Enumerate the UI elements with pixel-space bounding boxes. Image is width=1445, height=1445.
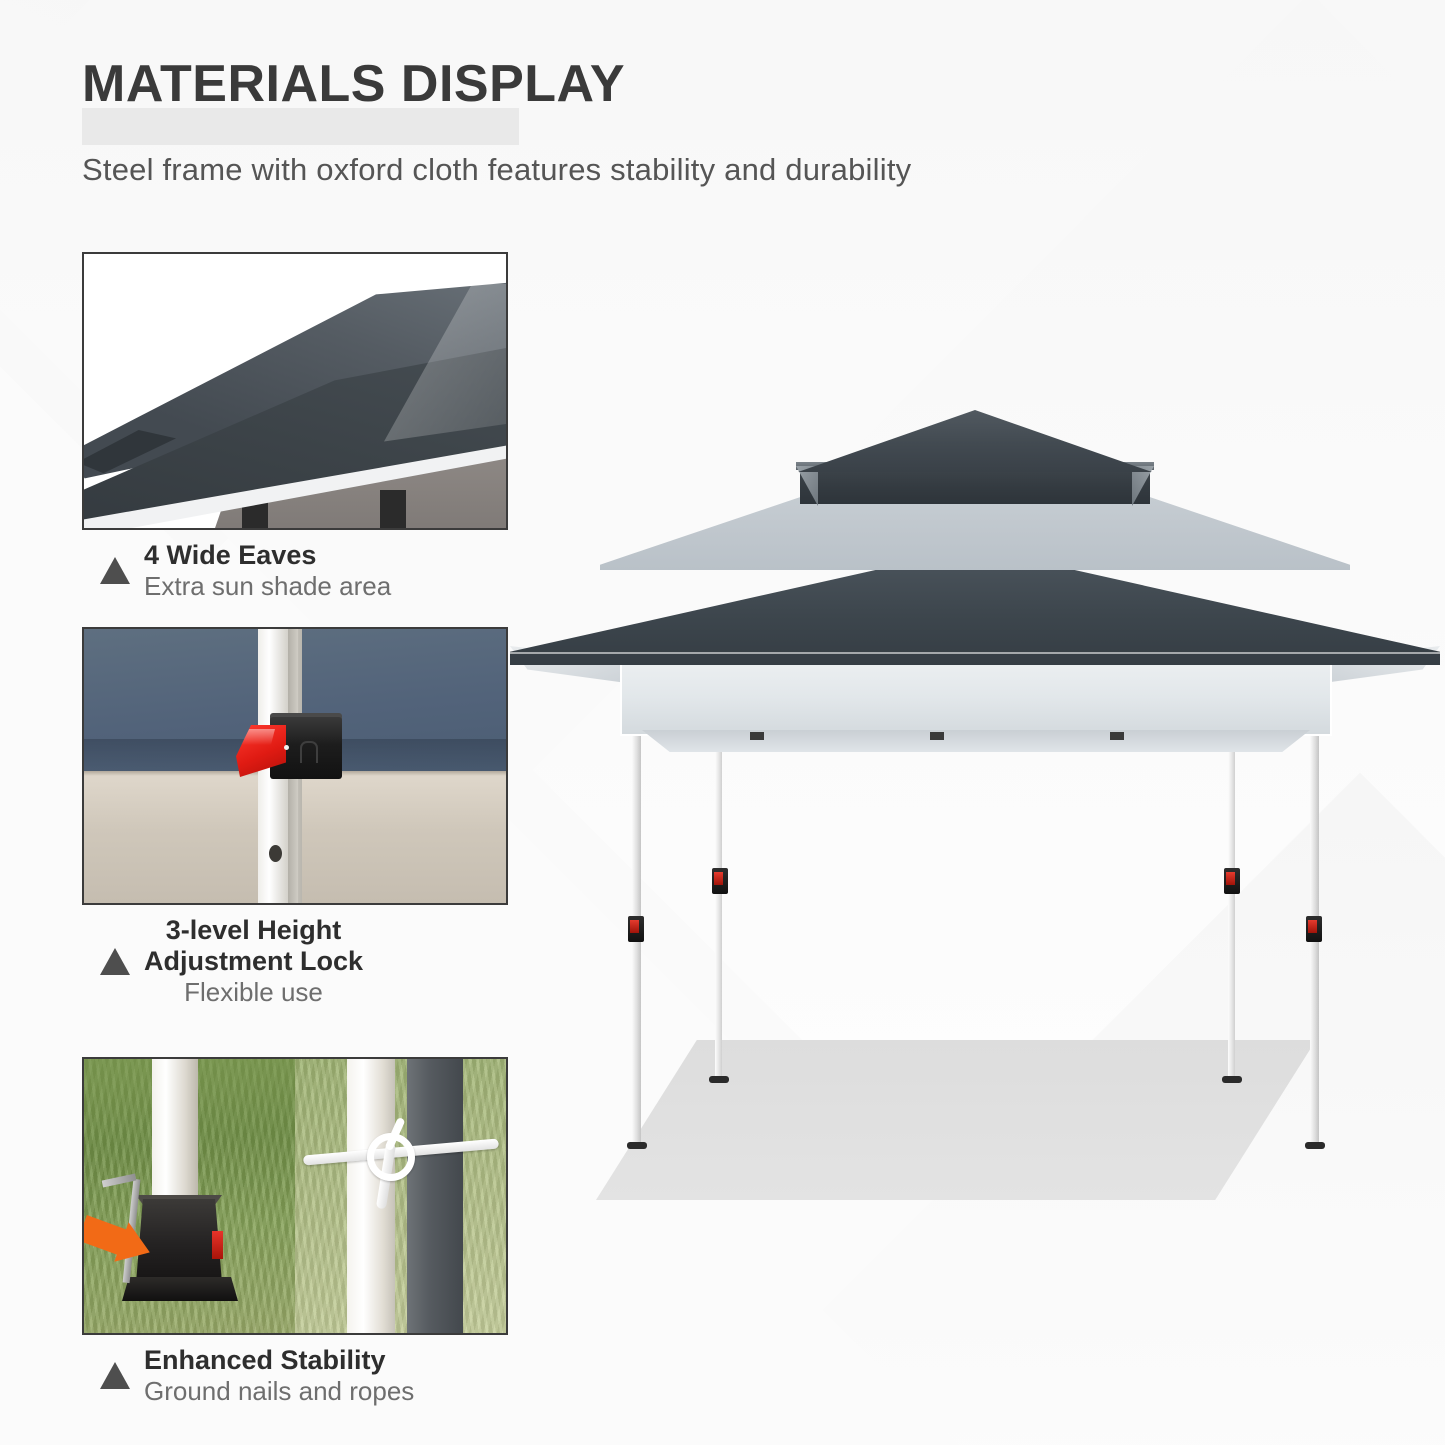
gazebo-foot-outer-right (1305, 1142, 1325, 1149)
feature-card-stability: Enhanced Stability Ground nails and rope… (82, 1057, 508, 1407)
pole-adjustment-hole (269, 845, 282, 862)
height-lock-photo (84, 629, 506, 903)
gazebo-pole (152, 1059, 198, 1213)
grass-texture (295, 1059, 506, 1333)
rope-photo (295, 1059, 506, 1333)
lock-clip-red-accent (1226, 872, 1235, 885)
valance-fastener-tab (750, 732, 764, 740)
feature-caption-stability: Enhanced Stability Ground nails and rope… (82, 1335, 508, 1407)
gazebo-foot-inner-right (1222, 1076, 1242, 1083)
feature-subtitle: Ground nails and ropes (144, 1376, 414, 1407)
stake-head (102, 1174, 137, 1188)
feature-card-height-lock: 3-level Height Adjustment Lock Flexible … (82, 627, 508, 1008)
triangle-bullet-icon (100, 557, 130, 584)
gazebo-roof-seam (510, 652, 1440, 654)
canopy-leg-right (380, 490, 406, 530)
feature-subtitle: Extra sun shade area (144, 571, 391, 602)
leg-lock-clip-inner-left (712, 868, 728, 894)
feature-title: 4 Wide Eaves (144, 540, 391, 571)
base-red-tab (212, 1231, 223, 1259)
lock-pin-dot (284, 745, 289, 750)
feature-title-line2: Adjustment Lock (144, 946, 363, 977)
lock-clip-red-accent (1308, 920, 1317, 933)
feature-subtitle: Flexible use (184, 977, 323, 1008)
feature-image-stability (82, 1057, 508, 1335)
feature-title: Enhanced Stability (144, 1345, 414, 1376)
header: MATERIALS DISPLAY Steel frame with oxfor… (82, 40, 1182, 188)
triangle-bullet-icon (100, 948, 130, 975)
triangle-bullet-icon (100, 1362, 130, 1389)
feature-image-wide-eaves (82, 252, 508, 530)
leg-lock-clip-outer-left (628, 916, 644, 942)
valance-fastener-tab (1110, 732, 1124, 740)
leg-lock-clip-outer-right (1306, 916, 1322, 942)
lock-clip-red-accent (714, 872, 723, 885)
ground-stake-photo (84, 1059, 295, 1333)
feature-caption-height-lock: 3-level Height Adjustment Lock Flexible … (82, 905, 508, 1008)
gazebo-floor-shadow (596, 1040, 1316, 1200)
gazebo-valance-underside (628, 730, 1324, 752)
page-subtitle: Steel frame with oxford cloth features s… (82, 110, 1182, 188)
gazebo-foot-outer-left (627, 1142, 647, 1149)
gazebo-vent-cap (798, 410, 1152, 472)
valance-fastener-tab (930, 732, 944, 740)
feature-image-height-lock (82, 627, 508, 905)
pole-base-housing (136, 1199, 222, 1283)
page-title: MATERIALS DISPLAY (82, 40, 1182, 110)
feature-card-wide-eaves: 4 Wide Eaves Extra sun shade area (82, 252, 508, 602)
canopy-eave-photo (84, 254, 506, 528)
leg-lock-clip-inner-right (1224, 868, 1240, 894)
lock-housing-marking (300, 741, 318, 763)
rope-pole-dark (407, 1059, 463, 1333)
gazebo-foot-inner-left (709, 1076, 729, 1083)
gazebo-roof-lower-band (510, 555, 1440, 665)
feature-caption-wide-eaves: 4 Wide Eaves Extra sun shade area (82, 530, 508, 602)
product-illustration-gazebo (510, 400, 1440, 1200)
lock-clip-red-accent (630, 920, 639, 933)
feature-title-line1: 3-level Height (166, 915, 342, 946)
stability-photo (84, 1059, 506, 1333)
